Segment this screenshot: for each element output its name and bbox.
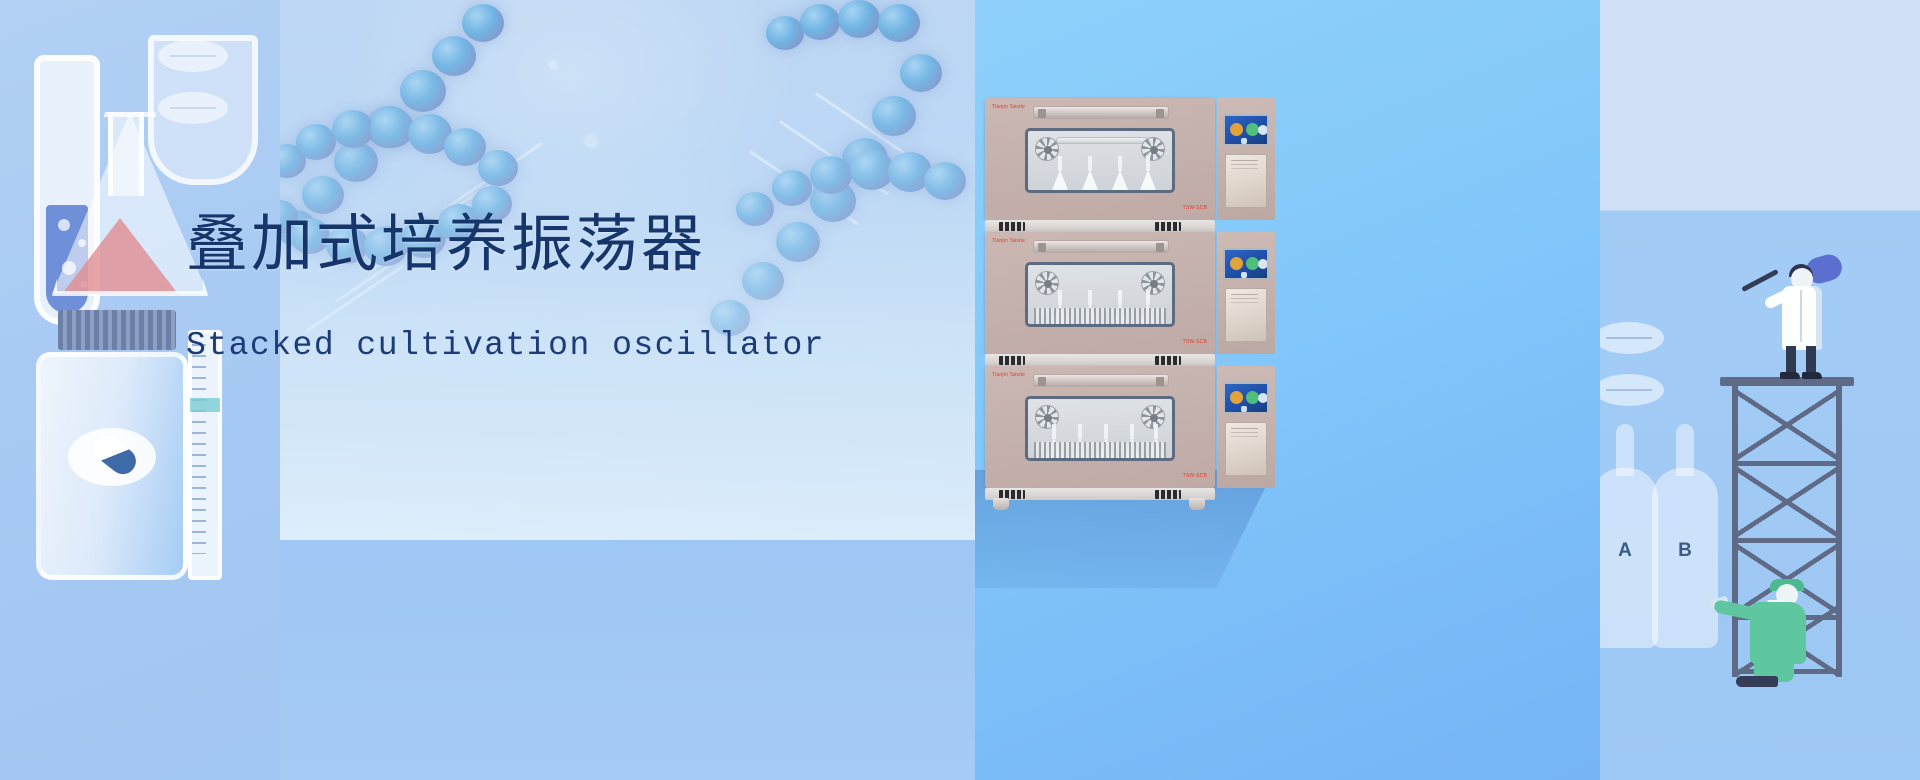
banner-text-block: 叠加式培养振荡器 Stacked cultivation oscillator … [186, 212, 946, 364]
instruction-plate [1225, 154, 1267, 208]
control-panel-3[interactable] [1217, 366, 1275, 488]
leveling-foot [1189, 498, 1205, 510]
tube-rack [1034, 308, 1166, 324]
flask-row [1028, 156, 1172, 190]
stacked-incubator-shaker: Tianjin Taisite TSW-SCB [985, 98, 1275, 490]
deck-plinth-3 [985, 488, 1215, 500]
deck-plinth-1 [985, 220, 1215, 232]
brand-label: Tianjin Taisite [992, 372, 1025, 378]
control-panel-2[interactable] [1217, 232, 1275, 354]
panel-scientists: A B [1600, 0, 1920, 780]
vent-grille-icon [999, 222, 1025, 231]
viewing-window [1025, 396, 1175, 461]
vent-grille-icon [1155, 490, 1181, 499]
banner-subtitle-en: Stacked cultivation oscillator [186, 327, 946, 364]
model-label: TSW-SCB [1183, 473, 1207, 479]
ampoule-a: A [1600, 468, 1658, 648]
vent-grille-icon [999, 356, 1025, 365]
model-label: TSW-SCB [1183, 339, 1207, 345]
door-handle[interactable] [1033, 374, 1169, 387]
shoe [1780, 372, 1800, 379]
label-oval-icon [1600, 374, 1664, 406]
instruction-plate [1225, 288, 1267, 342]
instruction-plate [1225, 422, 1267, 476]
telescope-icon [1741, 269, 1779, 292]
scaffold-cross-brace [1732, 389, 1842, 461]
scientist-white-coat [1758, 250, 1844, 380]
shaker-deck-3: Tianjin Taisite TSW-SCB [985, 366, 1215, 488]
scientist-green-coat [1720, 578, 1830, 694]
viewing-window [1025, 128, 1175, 193]
label-oval-icon [1600, 322, 1664, 354]
flask-row [1028, 290, 1172, 324]
lab-coat [1782, 286, 1822, 350]
lcd-screen-icon[interactable] [1223, 382, 1269, 414]
door-handle[interactable] [1033, 106, 1169, 119]
vent-grille-icon [1155, 222, 1181, 231]
panel-product-stage: Tianjin Taisite TSW-SCB [975, 0, 1600, 780]
deck-plinth-2 [985, 354, 1215, 366]
lcd-screen-icon[interactable] [1223, 114, 1269, 146]
panel-glassware [0, 0, 280, 780]
bottle-cap-icon [58, 310, 176, 350]
scaffold-cross-brace [1732, 466, 1842, 538]
ampoule-letter: B [1652, 540, 1718, 562]
model-label: TSW-SCB [1183, 205, 1207, 211]
brand-label: Tianjin Taisite [992, 104, 1025, 110]
shaker-deck-2: Tianjin Taisite TSW-SCB [985, 232, 1215, 354]
lcd-screen-icon[interactable] [1223, 248, 1269, 280]
leveling-foot [993, 498, 1009, 510]
product-banner: Tianjin Taisite TSW-SCB [0, 0, 1920, 780]
control-panel-1[interactable] [1217, 98, 1275, 220]
door-handle[interactable] [1033, 240, 1169, 253]
syringe-scale [192, 344, 206, 554]
shaker-deck-1: Tianjin Taisite TSW-SCB [985, 98, 1215, 220]
banner-title-cn: 叠加式培养振荡器 [186, 212, 946, 279]
syringe-plunger-band [190, 398, 220, 412]
interior-shelf-bar [1056, 137, 1148, 144]
brand-label: Tianjin Taisite [992, 238, 1025, 244]
tube-rack [1034, 442, 1166, 458]
flask-row [1028, 424, 1172, 458]
ampoule-b: B [1652, 468, 1718, 648]
green-coat [1750, 602, 1806, 664]
ampoule-letter: A [1600, 540, 1658, 562]
shoe [1802, 372, 1822, 379]
viewing-window [1025, 262, 1175, 327]
shoe [1736, 676, 1778, 687]
vent-grille-icon [1155, 356, 1181, 365]
